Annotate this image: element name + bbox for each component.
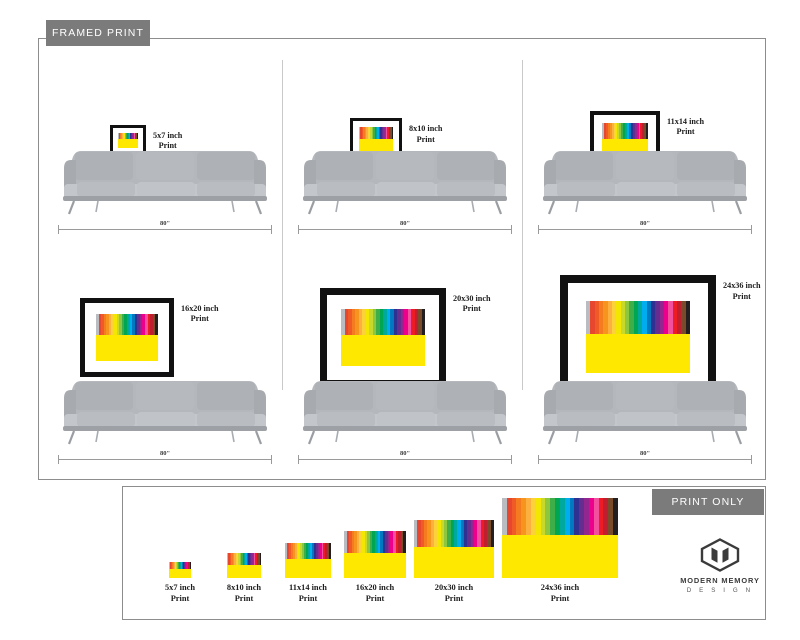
sofa-width-value: 80" <box>632 450 658 457</box>
sofa-scale-reference <box>58 130 272 216</box>
brand-logo: MODERN MEMORY D E S I G N <box>668 538 772 600</box>
print-only-sample[interactable]: 8x10 inch Print <box>216 553 272 604</box>
pencil-artwork <box>414 520 494 578</box>
sofa-width-dimension: 80" <box>538 452 752 464</box>
sofa-scale-reference <box>298 130 512 216</box>
print-size-caption: 20x30 inch Print <box>414 583 494 604</box>
sofa-width-value: 80" <box>152 220 178 227</box>
pencil-artwork <box>285 543 331 578</box>
print-size-label: 20x30 inch Print <box>453 294 491 315</box>
sofa-illustration <box>58 360 272 446</box>
sofa-illustration <box>298 360 512 446</box>
pencil-row <box>285 543 331 559</box>
pencil-row <box>96 314 158 336</box>
print-size-caption: 5x7 inch Print <box>152 583 208 604</box>
pencil-row <box>341 309 425 335</box>
print-size-caption: 8x10 inch Print <box>216 583 272 604</box>
sofa-width-value: 80" <box>632 220 658 227</box>
pencil-artwork <box>227 553 261 578</box>
print-only-sample[interactable]: 20x30 inch Print <box>414 520 494 604</box>
pencil-artwork <box>502 498 618 578</box>
pencil-row <box>502 498 618 535</box>
sofa-width-dimension: 80" <box>58 222 272 234</box>
sofa-illustration <box>298 130 512 216</box>
print-size-label: 16x20 inch Print <box>181 304 219 325</box>
sofa-scale-reference <box>298 360 512 446</box>
sofa-width-value: 80" <box>392 220 418 227</box>
framed-print-tab: FRAMED PRINT <box>46 20 150 46</box>
print-size-caption: 11x14 inch Print <box>280 583 336 604</box>
pencil-row <box>227 553 261 565</box>
print-only-sample[interactable]: 16x20 inch Print <box>344 531 406 604</box>
sofa-scale-reference <box>58 360 272 446</box>
yellow-field <box>227 565 261 578</box>
pencil-row <box>414 520 494 547</box>
yellow-field <box>285 560 331 578</box>
sofa-illustration <box>538 130 752 216</box>
panel-divider <box>282 60 283 390</box>
print-only-sample[interactable]: 5x7 inch Print <box>152 562 208 604</box>
sofa-scale-reference <box>538 130 752 216</box>
panel-divider <box>522 60 523 390</box>
sofa-illustration <box>538 360 752 446</box>
print-only-sample[interactable]: 24x36 inch Print <box>502 498 618 604</box>
logo-name-line2: D E S I G N <box>687 587 753 594</box>
sofa-illustration <box>58 130 272 216</box>
print-size-caption: 16x20 inch Print <box>344 583 406 604</box>
yellow-field <box>96 336 158 360</box>
yellow-field <box>414 548 494 578</box>
hexagon-monogram-icon <box>698 538 742 572</box>
pencil-artwork <box>96 314 158 361</box>
pencil-artwork <box>341 309 425 366</box>
sofa-width-dimension: 80" <box>538 222 752 234</box>
catalog-stage: FRAMED PRINT PRINT ONLY MODERN MEMORY D … <box>0 0 800 640</box>
print-only-sample[interactable]: 11x14 inch Print <box>280 543 336 604</box>
pencil-artwork <box>344 531 406 578</box>
yellow-field <box>502 536 618 578</box>
sofa-width-dimension: 80" <box>298 222 512 234</box>
sofa-scale-reference <box>538 360 752 446</box>
yellow-field <box>344 554 406 578</box>
logo-name-line1: MODERN MEMORY <box>680 576 760 585</box>
pencil-artwork <box>169 562 191 578</box>
pencil-row <box>586 301 690 334</box>
print-size-caption: 24x36 inch Print <box>502 583 618 604</box>
pencil-row <box>344 531 406 553</box>
yellow-field <box>169 570 191 578</box>
sofa-width-value: 80" <box>152 450 178 457</box>
pencil-row <box>169 562 191 569</box>
print-size-label: 24x36 inch Print <box>723 281 761 302</box>
print-only-tab: PRINT ONLY <box>652 489 764 515</box>
sofa-width-dimension: 80" <box>298 452 512 464</box>
sofa-width-dimension: 80" <box>58 452 272 464</box>
sofa-width-value: 80" <box>392 450 418 457</box>
